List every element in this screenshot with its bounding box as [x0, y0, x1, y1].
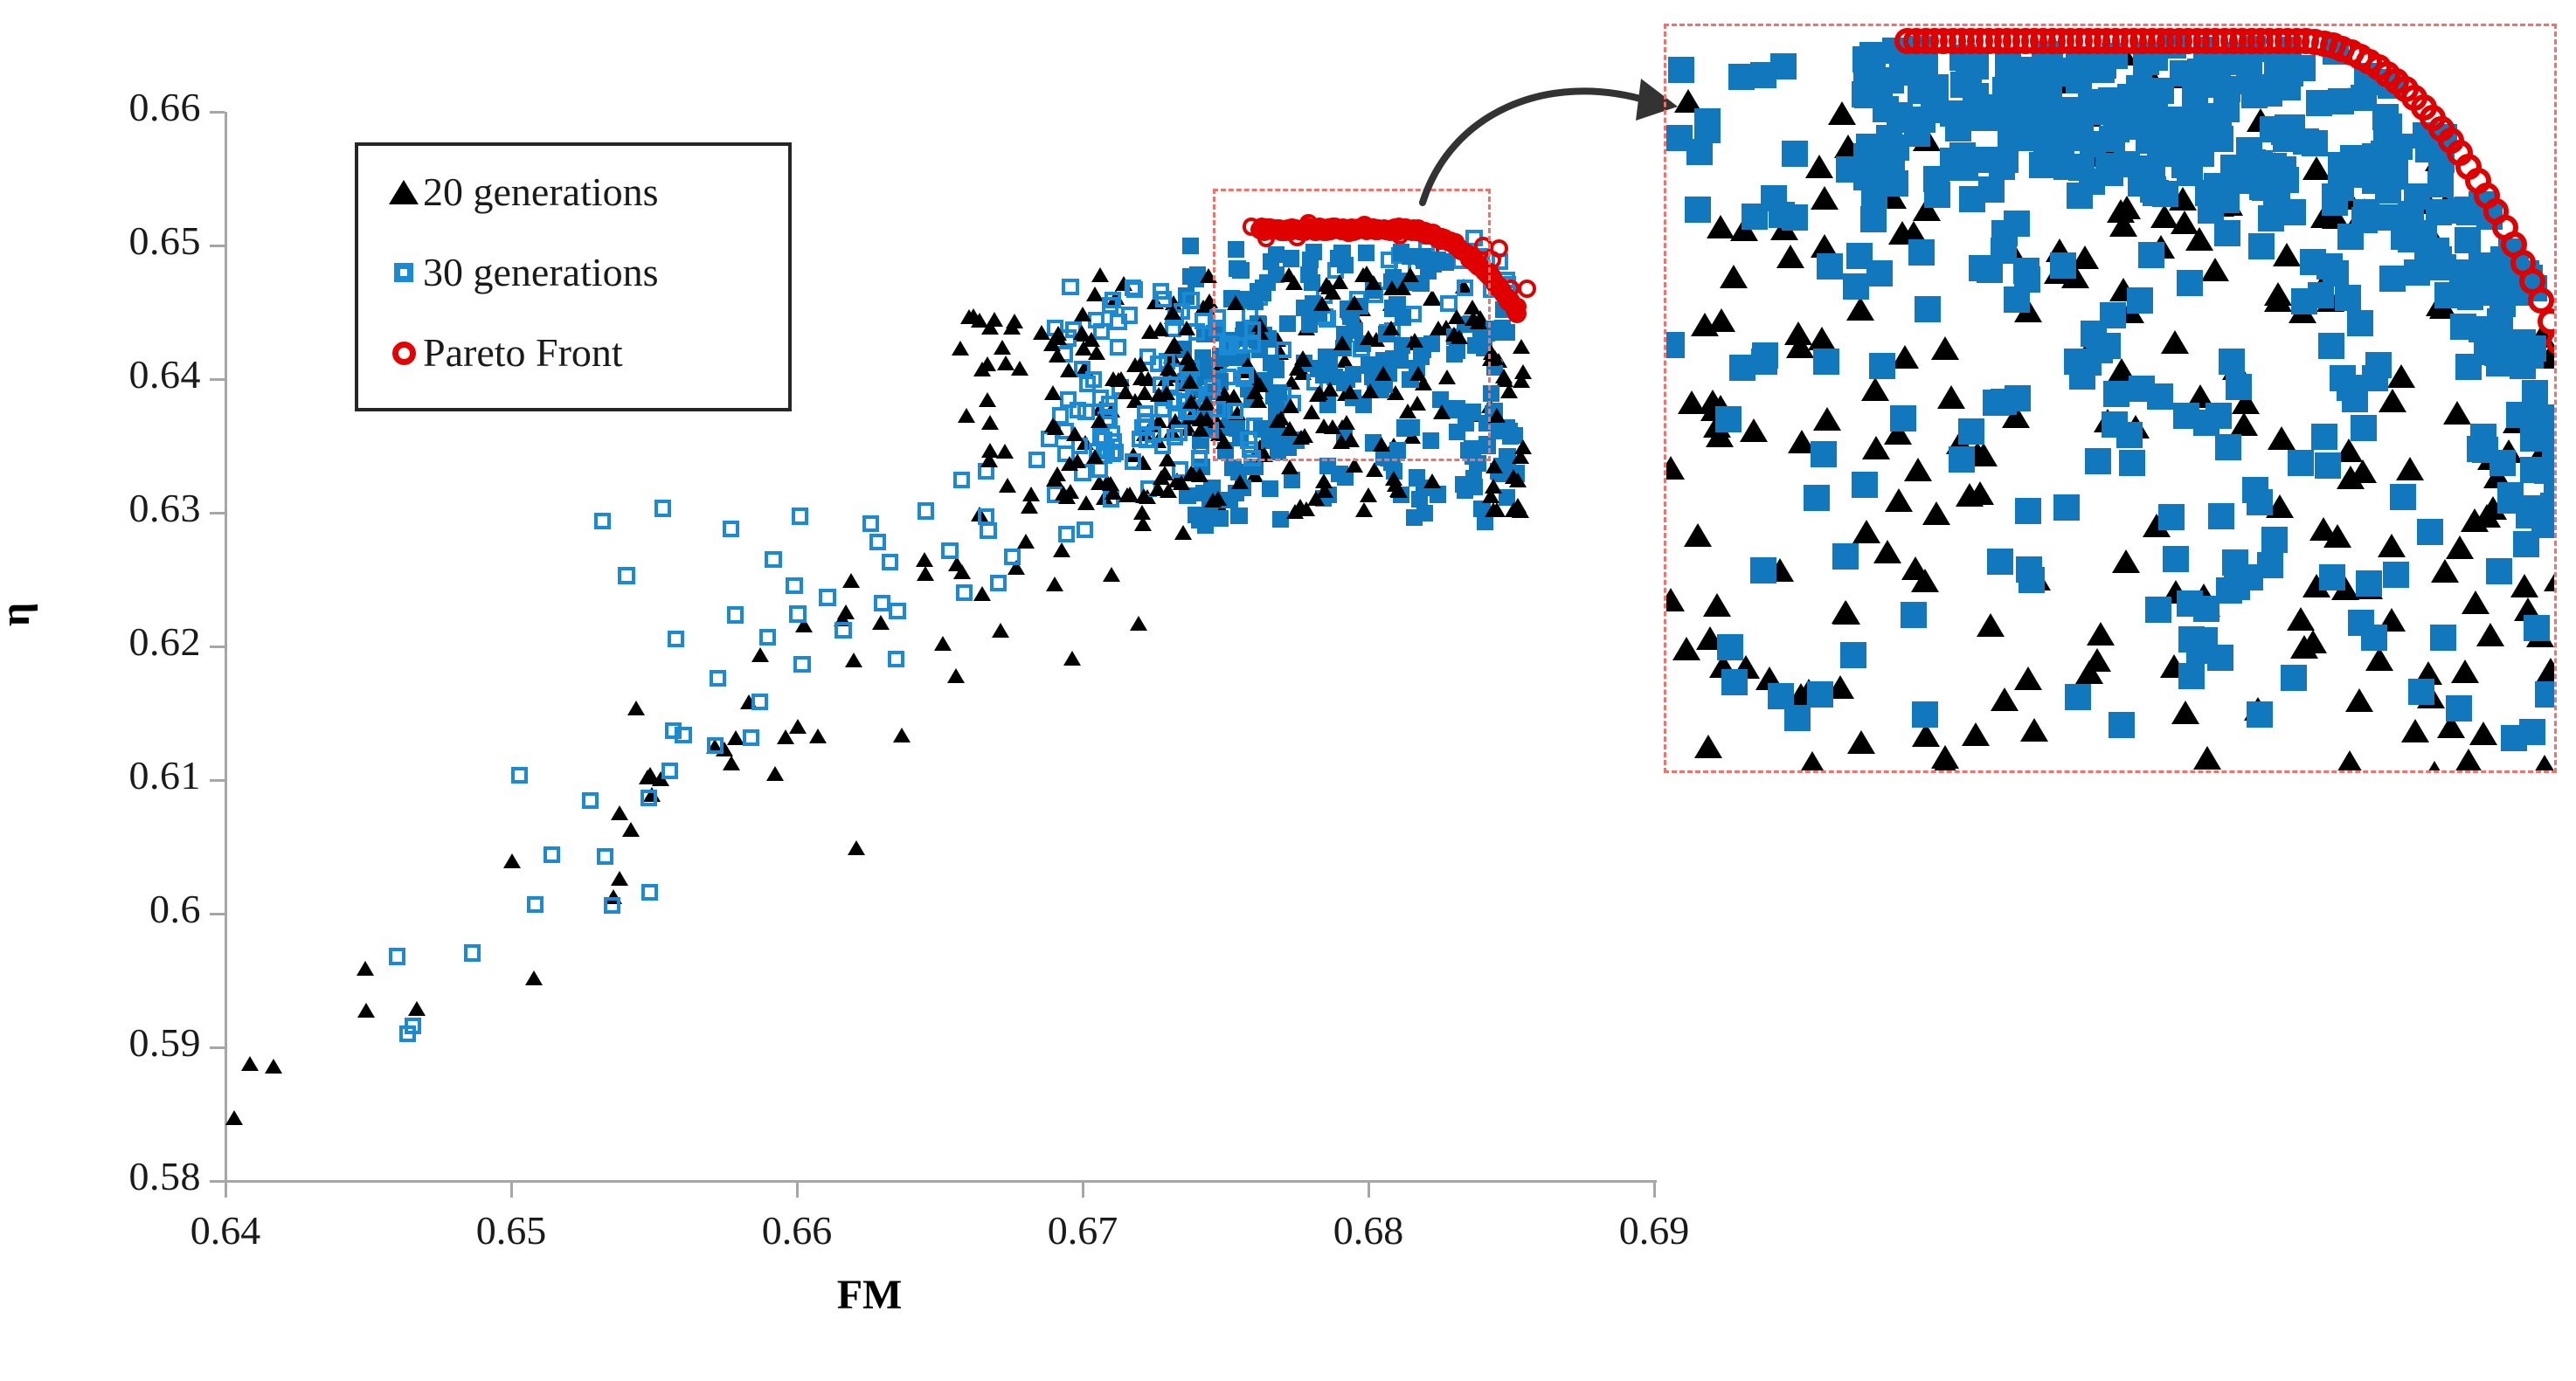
data-point-square — [2193, 410, 2219, 436]
data-point-triangle — [1720, 265, 1748, 288]
data-point-triangle — [1937, 385, 1965, 409]
data-point-triangle — [1164, 339, 1181, 354]
data-point-triangle — [1666, 456, 1685, 480]
data-point-square — [1901, 602, 1927, 628]
data-point-triangle — [2273, 243, 2301, 266]
y-tick-label-wrap: 0.64 — [48, 355, 201, 395]
data-point-square — [2414, 249, 2441, 275]
data-point-triangle — [1017, 534, 1035, 549]
data-point-square — [2242, 477, 2268, 503]
data-point-square — [2520, 457, 2546, 483]
data-point-triangle — [973, 586, 991, 601]
data-point-triangle — [2161, 330, 2189, 354]
legend-item-30-generations[interactable]: 30 generations — [384, 242, 659, 303]
y-tick-label: 0.66 — [48, 87, 201, 128]
y-tick — [210, 512, 225, 514]
data-point-triangle — [2268, 426, 2296, 450]
data-point-triangle — [1811, 186, 1839, 210]
data-point-square — [2050, 252, 2076, 279]
data-point-triangle — [1500, 383, 1518, 398]
data-point-triangle — [1182, 466, 1200, 480]
data-point-square — [1666, 125, 1693, 151]
data-point-square — [2177, 270, 2203, 296]
data-point-square — [2261, 153, 2287, 179]
data-point-triangle — [2201, 258, 2229, 281]
y-axis-line — [225, 112, 227, 1183]
data-point-triangle — [1281, 459, 1298, 474]
data-point-circle — [2546, 329, 2554, 356]
data-point-triangle — [1178, 321, 1195, 335]
data-point-square — [1167, 429, 1183, 445]
focus-region-box — [1213, 189, 1491, 461]
data-point-triangle — [842, 573, 860, 588]
data-point-triangle — [952, 341, 969, 356]
data-point-triangle — [1360, 487, 1377, 502]
y-tick — [210, 913, 225, 915]
data-point-square — [2129, 376, 2155, 402]
data-point-square — [2119, 450, 2145, 476]
y-tick-label-wrap: 0.59 — [48, 1023, 201, 1063]
data-point-triangle — [1136, 385, 1153, 400]
data-point-triangle — [1355, 502, 1373, 517]
data-point-triangle — [2287, 607, 2315, 631]
open-circle-icon — [384, 342, 423, 365]
data-point-triangle — [979, 392, 996, 407]
x-tick-label: 0.65 — [433, 1211, 590, 1251]
data-point-triangle — [611, 871, 628, 886]
data-point-square — [1750, 557, 1776, 583]
y-tick-label: 0.63 — [48, 488, 201, 528]
data-point-square — [1958, 418, 1984, 445]
data-point-square — [2138, 242, 2164, 268]
x-axis-title: FM — [808, 1271, 931, 1319]
data-point-square — [1062, 279, 1078, 295]
data-point-square — [2222, 549, 2248, 576]
data-point-triangle — [1505, 469, 1522, 484]
data-point-triangle — [2462, 590, 2489, 614]
data-point-triangle — [2171, 701, 2199, 724]
data-point-triangle — [1231, 474, 1249, 489]
y-tick-label: 0.64 — [48, 355, 201, 395]
data-point-square — [882, 554, 898, 570]
data-point-square — [2430, 625, 2456, 651]
data-point-triangle — [1083, 332, 1100, 347]
data-point-triangle — [872, 615, 890, 630]
data-point-triangle — [789, 719, 807, 734]
data-point-triangle — [1061, 456, 1078, 471]
data-point-triangle — [1813, 407, 1841, 431]
data-point-triangle — [1798, 751, 1826, 770]
data-point-square — [869, 534, 886, 550]
y-tick-label: 0.65 — [48, 221, 201, 261]
data-point-triangle — [2109, 213, 2137, 237]
data-point-square — [641, 790, 657, 806]
data-point-triangle — [2455, 749, 2483, 770]
data-point-triangle — [1066, 426, 1084, 441]
data-point-square — [1058, 526, 1075, 542]
y-tick — [210, 1180, 225, 1183]
data-point-triangle — [1832, 601, 1860, 625]
data-point-triangle — [1977, 613, 2005, 637]
data-point-square — [2300, 249, 2326, 275]
data-point-square — [1079, 376, 1096, 392]
data-point-square — [2085, 448, 2111, 474]
data-point-square — [1817, 253, 1843, 280]
data-point-square — [2054, 112, 2081, 138]
data-point-triangle — [917, 566, 934, 581]
data-point-square — [1096, 432, 1112, 448]
data-point-square — [2328, 88, 2354, 114]
data-point-square — [2053, 494, 2080, 521]
data-point-triangle — [845, 653, 862, 667]
y-tick — [210, 779, 225, 782]
data-point-triangle — [2378, 534, 2406, 557]
data-point-square — [792, 508, 808, 524]
y-tick-label: 0.58 — [48, 1157, 201, 1197]
data-point-square — [2139, 155, 2165, 182]
data-point-triangle — [2087, 622, 2115, 646]
data-point-square — [1077, 521, 1093, 538]
data-point-triangle — [1904, 458, 1932, 481]
y-tick — [210, 378, 225, 381]
data-point-triangle — [1103, 567, 1120, 582]
data-point-square — [2178, 663, 2205, 689]
data-point-square — [2535, 681, 2554, 708]
data-point-triangle — [1160, 361, 1177, 376]
data-point-triangle — [999, 478, 1016, 493]
data-point-triangle — [1966, 481, 1994, 505]
data-point-square — [2023, 121, 2049, 147]
y-tick-label-wrap: 0.65 — [48, 221, 201, 261]
x-tick — [225, 1183, 227, 1198]
y-tick-label-wrap: 0.66 — [48, 87, 201, 128]
data-point-square — [1912, 701, 1938, 728]
data-point-square — [1965, 105, 1991, 131]
data-point-triangle — [265, 1059, 282, 1074]
x-tick — [1653, 1183, 1656, 1198]
data-point-triangle — [1126, 357, 1144, 372]
x-tick-label: 0.67 — [1004, 1211, 1161, 1251]
data-point-square — [2100, 302, 2126, 328]
data-point-square — [862, 515, 879, 532]
data-point-triangle — [837, 604, 855, 619]
data-point-square — [2395, 204, 2421, 231]
data-point-triangle — [627, 701, 645, 715]
data-point-square — [1784, 705, 1811, 731]
data-point-triangle — [1931, 336, 1959, 360]
data-point-triangle — [1911, 569, 1939, 592]
data-point-square — [641, 884, 658, 901]
data-point-triangle — [848, 840, 865, 855]
data-point-triangle — [1204, 493, 1222, 508]
chart-legend: 20 generations 30 generations Pareto Fro… — [355, 142, 792, 411]
data-point-triangle — [1174, 525, 1192, 540]
filled-triangle-icon — [384, 180, 423, 204]
data-point-square — [2015, 498, 2041, 524]
data-point-square — [1179, 487, 1195, 504]
data-point-square — [1110, 339, 1126, 356]
y-tick — [210, 111, 225, 114]
x-tick — [1082, 1183, 1084, 1198]
y-tick — [210, 245, 225, 247]
data-point-triangle — [947, 668, 965, 683]
data-point-square — [2524, 615, 2550, 641]
data-point-triangle — [2112, 549, 2140, 573]
data-point-square — [1416, 505, 1433, 521]
data-point-square — [2248, 233, 2275, 259]
data-point-square — [1717, 634, 1743, 660]
data-point-square — [1060, 391, 1077, 408]
data-point-square — [2486, 558, 2512, 584]
data-point-square — [1843, 273, 1869, 300]
y-tick-label-wrap: 0.6 — [48, 889, 201, 929]
data-point-triangle — [1046, 472, 1063, 487]
data-point-square — [874, 595, 890, 611]
y-tick-label-wrap: 0.61 — [48, 756, 201, 796]
data-point-square — [710, 670, 726, 687]
data-point-triangle — [1776, 245, 1804, 268]
data-point-square — [953, 472, 970, 488]
data-point-square — [2319, 564, 2345, 590]
data-point-triangle — [981, 443, 999, 458]
data-point-square — [1952, 155, 1978, 181]
data-point-square — [2315, 452, 2341, 479]
x-tick-label: 0.69 — [1575, 1211, 1733, 1251]
data-point-square — [2455, 227, 2481, 253]
data-point-triangle — [503, 853, 521, 868]
data-point-triangle — [1286, 504, 1304, 519]
data-point-triangle — [1063, 651, 1081, 666]
data-point-square — [1908, 239, 1935, 266]
data-point-triangle — [2185, 227, 2213, 251]
data-point-square — [1154, 401, 1171, 418]
data-point-triangle — [1703, 593, 1731, 617]
data-point-triangle — [1873, 540, 1901, 563]
data-point-square — [2264, 178, 2290, 204]
data-point-square — [2506, 402, 2532, 428]
data-point-square — [2351, 415, 2377, 441]
data-point-square — [1811, 441, 1837, 467]
data-point-square — [661, 763, 678, 779]
data-point-triangle — [1423, 473, 1441, 488]
data-point-square — [1139, 432, 1155, 448]
data-point-triangle — [611, 805, 628, 820]
data-point-triangle — [1931, 745, 1959, 769]
data-point-square — [2261, 527, 2288, 553]
y-tick-label-wrap: 0.58 — [48, 1157, 201, 1197]
data-point-triangle — [1861, 377, 1889, 401]
data-point-square — [793, 656, 810, 673]
data-point-triangle — [727, 730, 744, 745]
data-point-square — [2520, 425, 2546, 452]
data-point-triangle — [1740, 418, 1768, 442]
data-point-square — [1715, 406, 1742, 432]
data-point-triangle — [1046, 577, 1063, 591]
data-point-square — [2390, 484, 2416, 510]
legend-item-20-generations[interactable]: 20 generations — [384, 162, 659, 223]
scatter-chart-figure: 0.580.590.60.610.620.630.640.650.66 0.64… — [0, 0, 2576, 1381]
data-point-triangle — [1307, 491, 1325, 506]
data-point-square — [1840, 642, 1866, 668]
data-point-square — [1807, 681, 1833, 708]
data-point-square — [2103, 381, 2129, 407]
legend-label: 30 generations — [423, 252, 659, 293]
data-point-triangle — [1091, 267, 1109, 282]
data-point-square — [1126, 281, 1143, 298]
data-point-square — [1909, 107, 1935, 133]
y-tick-label-wrap: 0.62 — [48, 622, 201, 662]
data-point-square — [675, 727, 691, 743]
data-point-square — [527, 896, 544, 913]
data-point-square — [2379, 266, 2406, 292]
data-point-triangle — [1074, 307, 1091, 321]
data-point-triangle — [2537, 658, 2554, 681]
data-point-square — [918, 502, 934, 519]
data-point-triangle — [958, 408, 975, 423]
data-point-triangle — [2476, 623, 2504, 646]
data-point-square — [2177, 590, 2203, 617]
data-point-triangle — [622, 822, 640, 837]
data-point-square — [2247, 701, 2273, 728]
x-tick-label: 0.66 — [718, 1211, 876, 1251]
data-point-square — [1782, 204, 1808, 231]
data-point-square — [2257, 552, 2283, 578]
data-point-triangle — [1077, 495, 1095, 510]
data-point-square — [2492, 343, 2518, 369]
data-point-square — [464, 944, 481, 961]
data-point-square — [1004, 549, 1021, 565]
data-point-square — [1860, 206, 1887, 232]
data-point-triangle — [1160, 483, 1177, 498]
data-point-square — [1110, 314, 1126, 330]
data-point-square — [889, 603, 905, 619]
data-point-square — [723, 521, 739, 537]
data-point-triangle — [2193, 746, 2221, 770]
data-point-square — [2029, 152, 2055, 178]
data-point-square — [2335, 285, 2361, 311]
data-point-square — [389, 948, 405, 964]
data-point-triangle — [1121, 487, 1139, 501]
data-point-triangle — [997, 356, 1014, 370]
data-point-triangle — [357, 961, 374, 976]
data-point-square — [2427, 171, 2454, 197]
data-point-square — [511, 767, 528, 784]
data-point-triangle — [1485, 479, 1502, 494]
data-point-triangle — [1091, 413, 1108, 428]
x-tick-label: 0.64 — [147, 1211, 304, 1251]
data-point-triangle — [1133, 505, 1151, 520]
data-point-square — [2069, 363, 2095, 390]
data-point-triangle — [1862, 436, 1890, 459]
data-point-triangle — [996, 444, 1014, 459]
data-point-square — [1153, 283, 1169, 300]
data-point-square — [2145, 597, 2171, 623]
data-point-square — [1890, 405, 1916, 432]
data-point-square — [1804, 485, 1830, 511]
data-point-square — [2126, 75, 2152, 101]
data-point-square — [2241, 82, 2268, 108]
data-point-square — [2489, 291, 2516, 317]
data-point-triangle — [1055, 486, 1072, 501]
data-point-square — [2136, 128, 2162, 154]
data-point-triangle — [1885, 488, 1913, 512]
data-point-triangle — [1003, 320, 1021, 335]
data-point-triangle — [981, 320, 999, 335]
data-point-triangle — [2365, 647, 2393, 671]
inset-magnified-panel — [1664, 24, 2557, 773]
data-point-triangle — [2302, 156, 2330, 180]
data-point-square — [978, 508, 994, 525]
data-point-triangle — [916, 552, 933, 567]
data-point-square — [2365, 352, 2392, 378]
data-point-square — [888, 651, 904, 667]
data-point-triangle — [1130, 616, 1147, 631]
data-point-square — [2408, 679, 2434, 705]
data-point-square — [2013, 258, 2039, 284]
data-point-triangle — [2336, 750, 2364, 770]
x-tick-label: 0.68 — [1290, 1211, 1447, 1251]
data-point-triangle — [2443, 401, 2471, 425]
data-point-square — [743, 729, 759, 746]
data-point-triangle — [1513, 339, 1530, 354]
data-point-square — [597, 848, 613, 865]
data-point-square — [2224, 574, 2250, 600]
data-point-square — [1869, 353, 1895, 379]
data-point-triangle — [2401, 719, 2429, 742]
data-point-square — [2005, 385, 2031, 411]
data-point-triangle — [809, 728, 827, 743]
data-point-square — [1876, 125, 1902, 151]
data-point-square — [2275, 115, 2302, 142]
data-point-square — [1770, 53, 1797, 79]
legend-label: 20 generations — [423, 172, 659, 212]
data-point-square — [1987, 549, 2013, 575]
data-point-square — [1854, 82, 1880, 108]
data-point-square — [2188, 141, 2214, 167]
data-point-square — [1990, 100, 2016, 127]
data-point-triangle — [2020, 718, 2048, 742]
data-point-square — [2158, 504, 2185, 530]
data-point-square — [1685, 197, 1711, 223]
data-point-triangle — [2431, 559, 2459, 583]
x-tick — [796, 1183, 799, 1198]
data-point-triangle — [1158, 385, 1175, 400]
data-point-square — [2213, 187, 2240, 213]
y-tick-label: 0.61 — [48, 756, 201, 796]
data-point-triangle — [2150, 204, 2178, 228]
data-point-square — [2311, 424, 2337, 450]
data-point-square — [2109, 712, 2135, 738]
data-point-square — [2383, 562, 2409, 588]
data-point-triangle — [1053, 542, 1070, 557]
data-point-square — [2127, 287, 2153, 314]
data-point-square — [2373, 125, 2399, 151]
data-point-square — [765, 551, 781, 568]
data-point-square — [2379, 163, 2406, 190]
data-point-square — [1465, 479, 1482, 495]
data-point-triangle — [2230, 412, 2258, 436]
data-point-square — [1668, 57, 1694, 83]
data-point-square — [1915, 296, 1941, 322]
legend-item-pareto-front[interactable]: Pareto Front — [384, 322, 623, 383]
y-tick-label: 0.62 — [48, 622, 201, 662]
open-square-icon — [384, 263, 423, 282]
data-point-triangle — [1390, 483, 1408, 498]
data-point-triangle — [1086, 449, 1104, 464]
data-point-square — [405, 1018, 421, 1034]
data-point-square — [2226, 374, 2252, 400]
data-point-square — [2102, 411, 2128, 438]
